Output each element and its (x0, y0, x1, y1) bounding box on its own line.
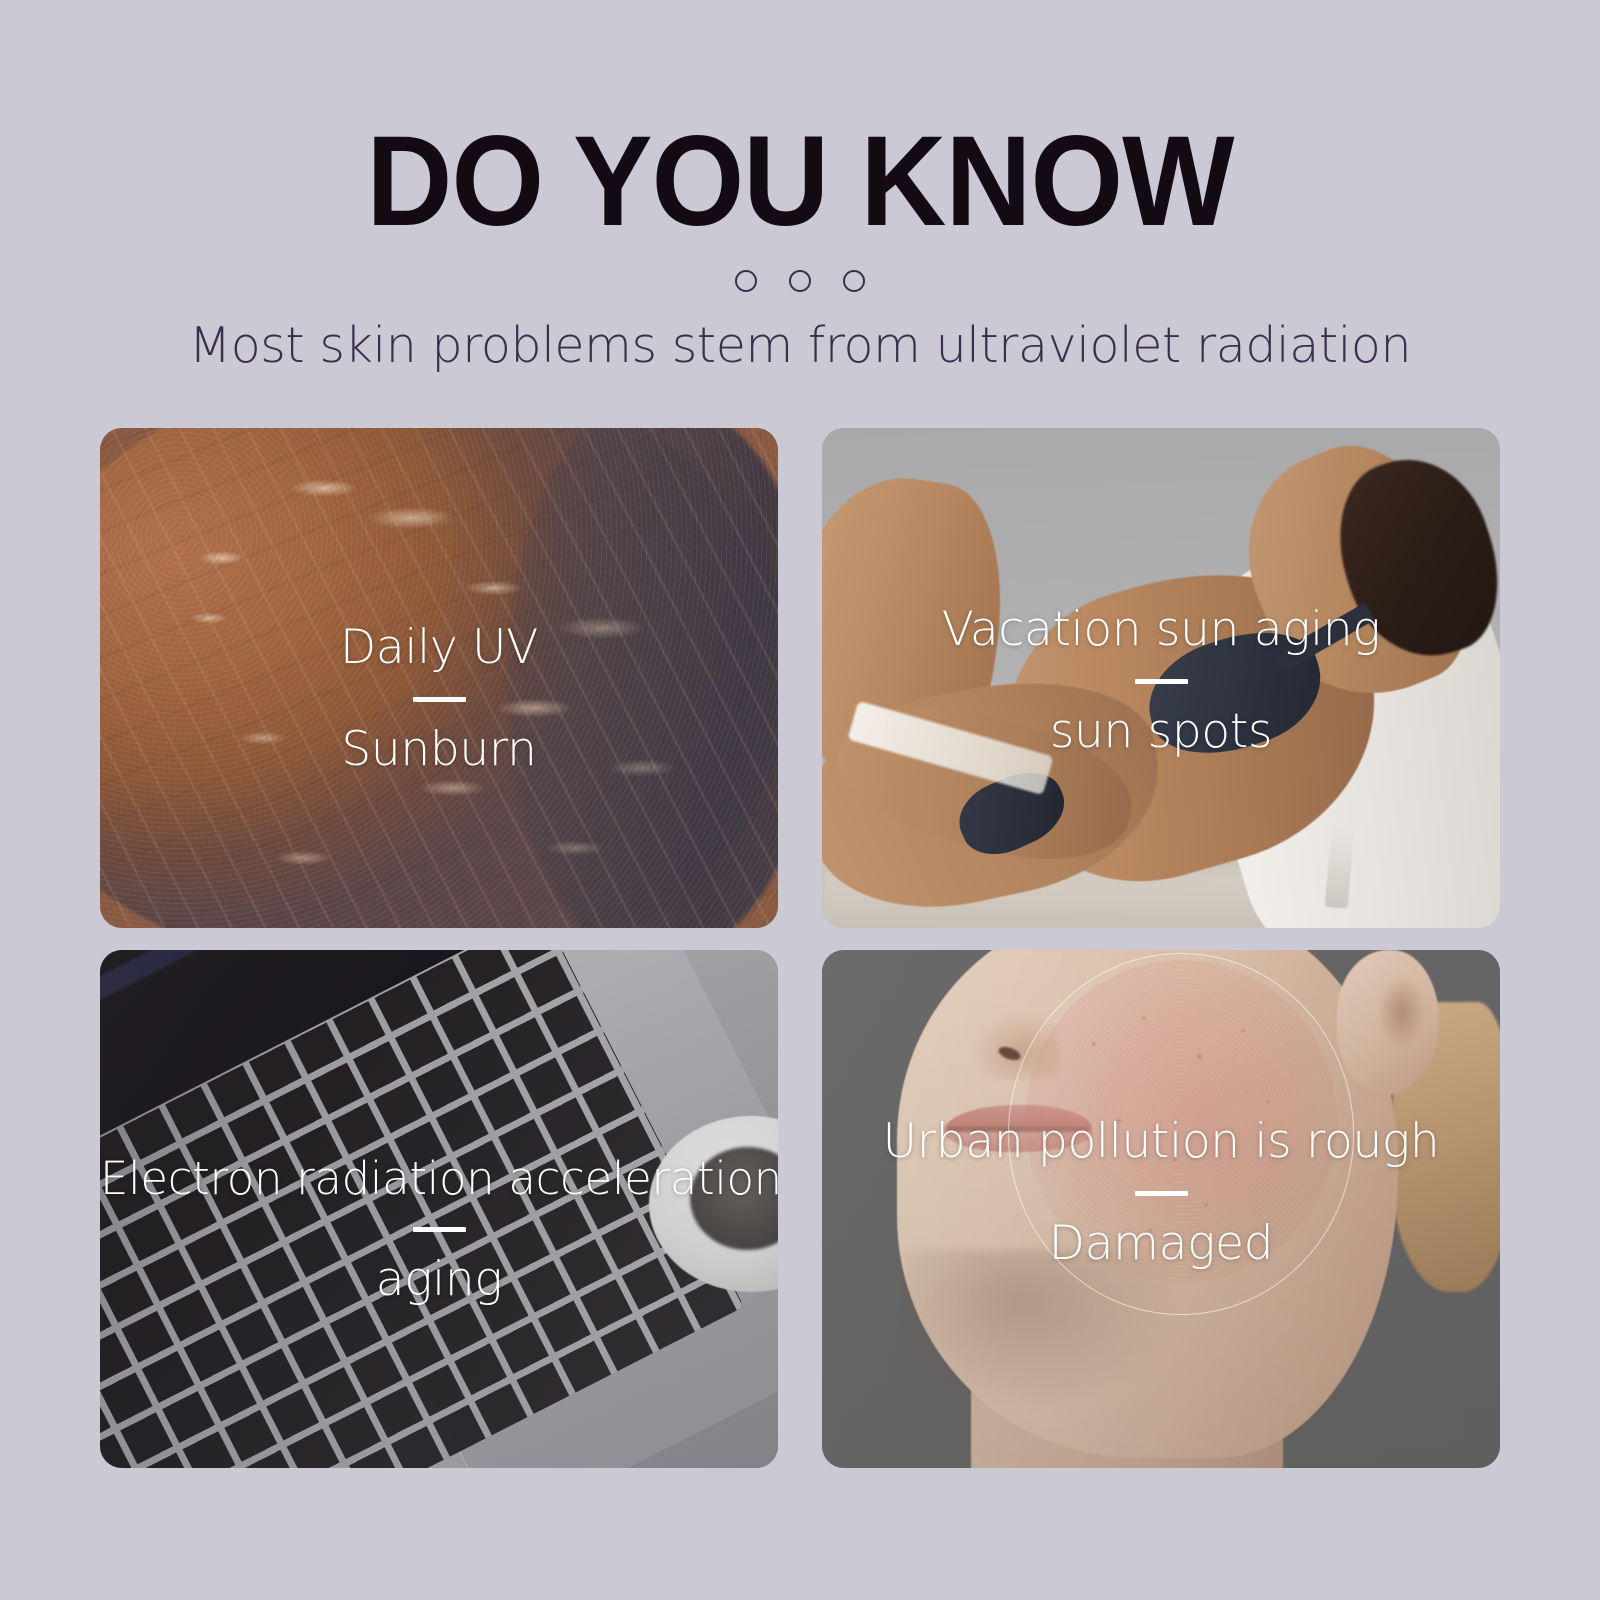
card-cause-text: Daily UV (100, 624, 778, 671)
dot-3-icon (843, 270, 865, 292)
card-effect-text: aging (100, 1256, 778, 1303)
card-cause-text: Electron radiation acceleration (100, 1156, 778, 1201)
infographic-poster: DO YOU KNOW Most skin problems stem from… (0, 0, 1600, 1600)
page-subtitle: Most skin problems stem from ultraviolet… (0, 318, 1600, 374)
card-electron-radiation-caption: Electron radiation acceleration aging (100, 1156, 778, 1303)
card-effect-text: sun spots (822, 708, 1500, 755)
card-daily-uv[interactable]: Daily UV Sunburn (100, 428, 778, 928)
card-vacation-sun-caption: Vacation sun aging sun spots (822, 606, 1500, 755)
card-effect-text: Sunburn (100, 726, 778, 773)
page-title: DO YOU KNOW (56, 118, 1544, 246)
dot-1-icon (735, 270, 757, 292)
header: DO YOU KNOW Most skin problems stem from… (0, 0, 1600, 374)
card-urban-pollution[interactable]: Urban pollution is rough Damaged (822, 950, 1500, 1468)
card-cause-text: Vacation sun aging (822, 606, 1500, 653)
caption-separator (1135, 1191, 1188, 1196)
card-vacation-sun[interactable]: Vacation sun aging sun spots (822, 428, 1500, 928)
caption-separator (1135, 679, 1188, 684)
cards-grid: Daily UV Sunburn (100, 428, 1500, 1468)
caption-separator (413, 697, 466, 702)
card-urban-pollution-caption: Urban pollution is rough Damaged (822, 1118, 1500, 1267)
card-electron-radiation[interactable]: Electron radiation acceleration aging (100, 950, 778, 1468)
caption-separator (413, 1227, 466, 1232)
card-effect-text: Damaged (822, 1220, 1500, 1267)
dot-2-icon (789, 270, 811, 292)
card-daily-uv-caption: Daily UV Sunburn (100, 624, 778, 773)
dot-separator (0, 270, 1600, 292)
card-cause-text: Urban pollution is rough (822, 1118, 1500, 1165)
